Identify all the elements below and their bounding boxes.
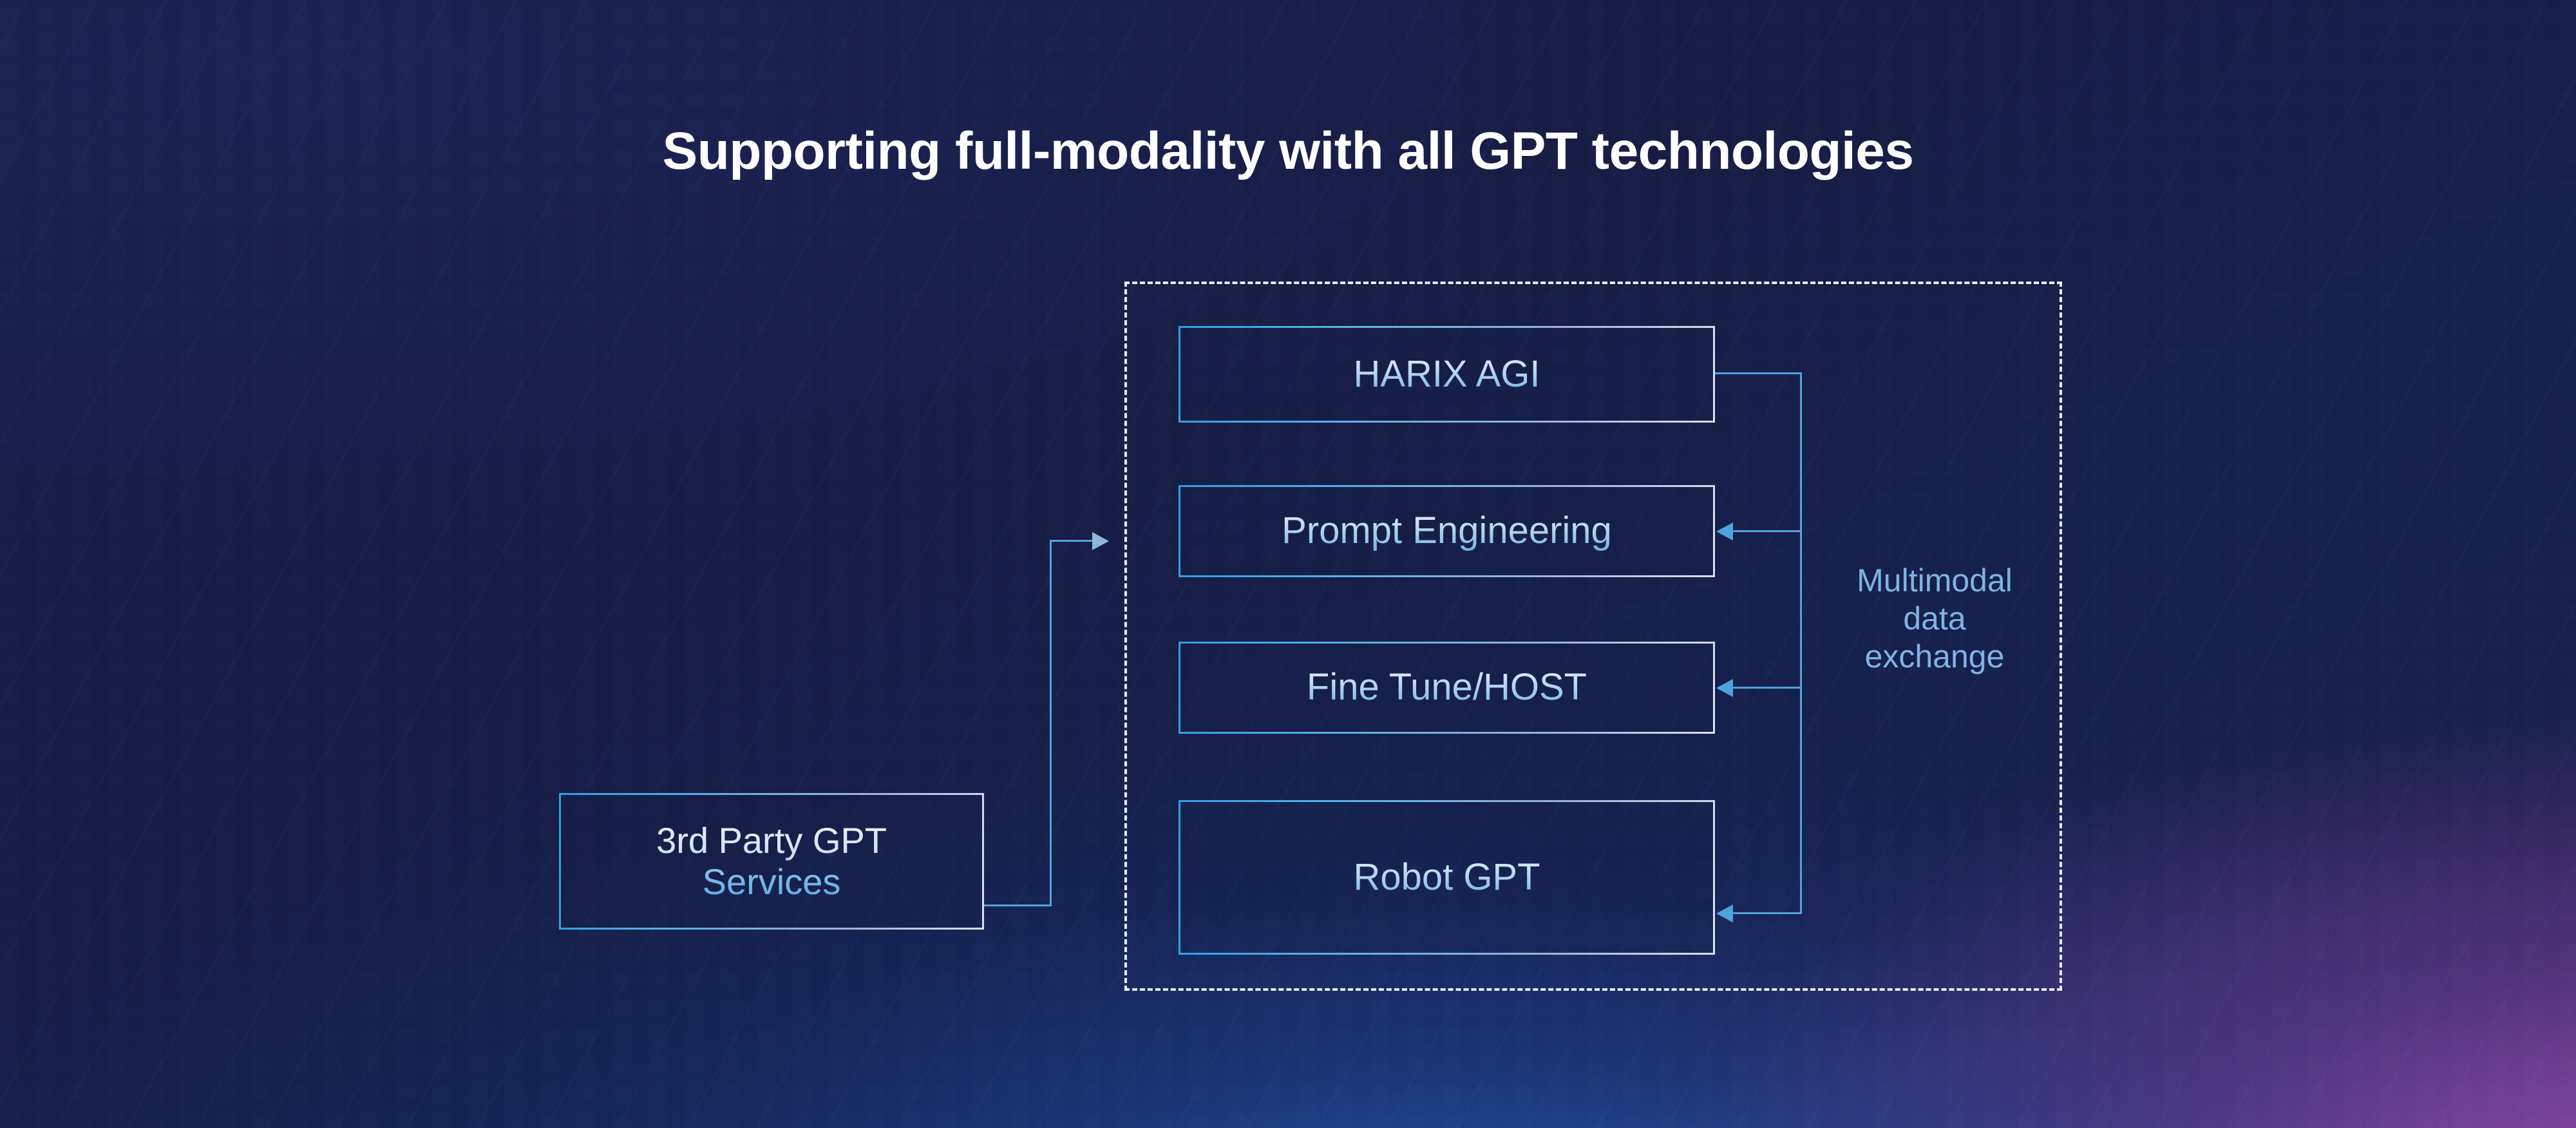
node-prompt-engineering[interactable]: Prompt Engineering: [1179, 485, 1715, 577]
connector-thirdparty-vertical: [1050, 540, 1052, 906]
arrowhead-left-robot-icon: [1716, 904, 1733, 922]
multimodal-data-exchange-caption: Multimodal data exchange: [1819, 562, 2050, 676]
connector-thirdparty-into-platform: [1050, 540, 1094, 542]
arrowhead-right-platform-icon: [1092, 532, 1109, 550]
connector-thirdparty-out: [984, 904, 1052, 906]
connector-vertical-bus: [1800, 372, 1802, 913]
connector-bus-to-prompt: [1732, 530, 1802, 532]
connector-harix-to-bus: [1715, 372, 1802, 374]
node-harix-agi[interactable]: HARIX AGI: [1179, 326, 1715, 423]
node-harix-agi-label: HARIX AGI: [1340, 353, 1553, 396]
caption-line-1: Multimodal: [1819, 562, 2050, 600]
slide-canvas: Supporting full-modality with all GPT te…: [0, 0, 2576, 1128]
connector-bus-to-finetune: [1732, 687, 1802, 689]
caption-line-3: exchange: [1819, 638, 2050, 676]
arrowhead-left-finetune-icon: [1716, 679, 1733, 697]
slide-title: Supporting full-modality with all GPT te…: [0, 121, 2576, 182]
node-robot-gpt-label: Robot GPT: [1340, 856, 1553, 899]
caption-line-2: data: [1819, 600, 2050, 638]
connector-bus-to-robot: [1732, 912, 1802, 914]
node-fine-tune-host[interactable]: Fine Tune/HOST: [1179, 642, 1715, 734]
arrowhead-left-prompt-icon: [1716, 522, 1733, 540]
node-fine-tune-host-label: Fine Tune/HOST: [1294, 666, 1600, 709]
node-prompt-engineering-label: Prompt Engineering: [1269, 510, 1625, 552]
node-third-party-line1: 3rd Party GPT: [656, 820, 887, 861]
node-third-party-gpt-services-label: 3rd Party GPT Services: [643, 820, 900, 903]
node-third-party-gpt-services[interactable]: 3rd Party GPT Services: [559, 793, 984, 930]
node-third-party-line2: Services: [656, 861, 887, 903]
node-robot-gpt[interactable]: Robot GPT: [1179, 800, 1715, 955]
